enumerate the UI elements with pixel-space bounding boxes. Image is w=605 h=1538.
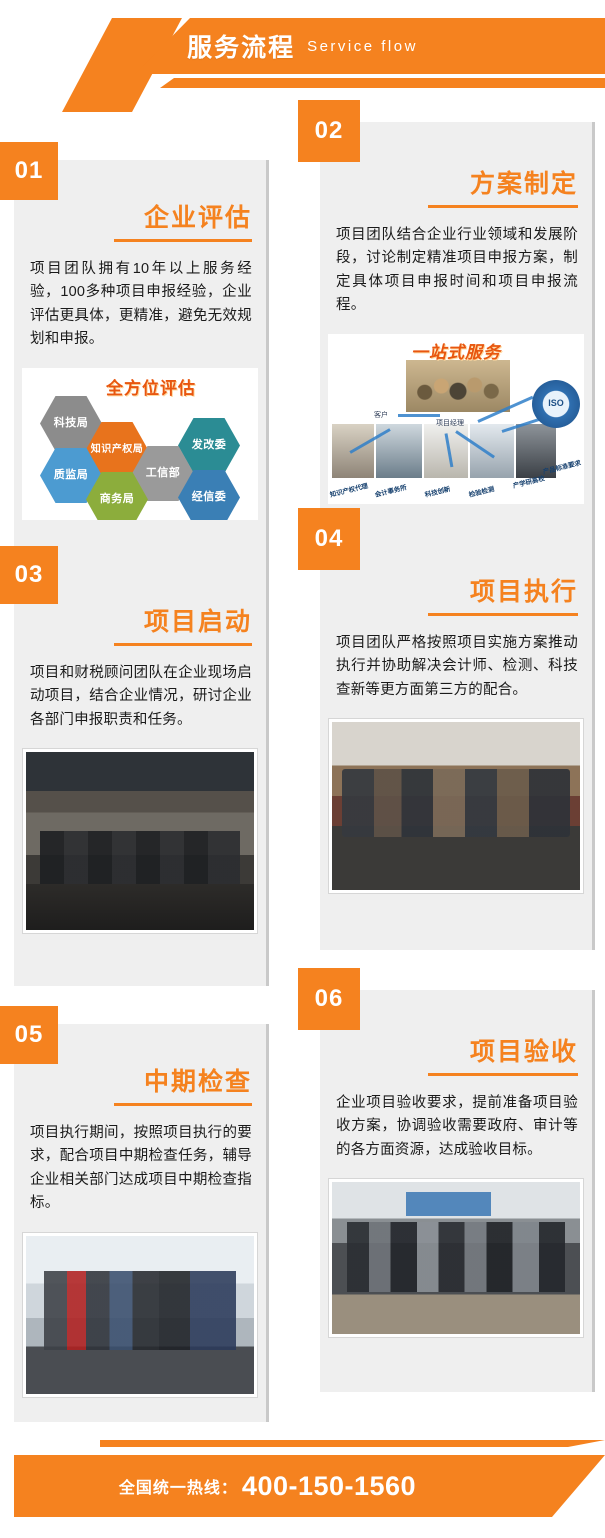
process-card-03[interactable]: 03 项目启动 项目和财税顾问团队在企业现场启动项目，结合企业情况，研讨企业各部…	[14, 564, 266, 986]
card-title-03: 项目启动	[14, 602, 266, 638]
header-secondary-bar	[160, 78, 605, 88]
card-number-badge-02: 02	[298, 100, 360, 162]
card-body-02: 项目团队结合企业行业领域和发展阶段，讨论制定精准项目申报方案，制定具体项目申报时…	[320, 208, 592, 328]
photo-site-visit	[26, 1236, 254, 1394]
card-number-badge-04: 04	[298, 508, 360, 570]
photo-conference-room	[26, 752, 254, 930]
photo-frame-06	[328, 1178, 584, 1338]
hexagon-chart-title: 全方位评估	[106, 374, 196, 399]
photo-media-03	[22, 748, 258, 934]
card-title-05: 中期检查	[14, 1062, 266, 1098]
page-footer: 全国统一热线： 400-150-1560	[0, 1424, 605, 1538]
oss-thumb-innovation	[424, 424, 468, 478]
meeting-photo-thumb	[406, 360, 510, 412]
photo-frame-03	[22, 748, 258, 934]
card-number-badge-03: 03	[0, 546, 58, 604]
photo-acceptance-meeting	[332, 1182, 580, 1334]
iso-seal-icon	[532, 380, 580, 428]
oss-label-ip-agency: 知识产权代理	[329, 480, 369, 499]
one-stop-service-title: 一站式服务	[328, 338, 584, 363]
card-body-05: 项目执行期间，按照项目执行的要求，配合项目中期检查任务，辅导企业相关部门达成项目…	[14, 1106, 266, 1226]
card-title-04: 项目执行	[320, 572, 592, 608]
oss-node-project-manager: 项目经理	[436, 418, 464, 428]
photo-frame-05	[22, 1232, 258, 1398]
card-title-06: 项目验收	[320, 1032, 592, 1068]
hexagon-chart-media: 全方位评估 科技局 知识产权局 发改委 质监局 工信部 经信委 商务局	[22, 368, 258, 520]
oss-node-customer: 客户	[374, 410, 388, 420]
oss-label-inspection: 检验检测	[468, 483, 496, 499]
card-title-02: 方案制定	[320, 164, 592, 200]
card-number-badge-01: 01	[0, 142, 58, 200]
page-header: 服务流程 Service flow	[0, 0, 605, 112]
process-card-04[interactable]: 04 项目执行 项目团队严格按照项目实施方案推动执行并协助解决会计师、检测、科技…	[320, 530, 592, 950]
card-body-03: 项目和财税顾问团队在企业现场启动项目，结合企业情况，研讨企业各部门申报职责和任务…	[14, 646, 266, 742]
header-banner-bar	[135, 18, 605, 74]
oss-thumb-inspection	[470, 424, 514, 478]
photo-media-06	[328, 1178, 584, 1338]
card-title-01: 企业评估	[14, 198, 266, 234]
card-number-badge-05: 05	[0, 1006, 58, 1064]
footer-banner-bar	[14, 1455, 605, 1517]
process-card-06[interactable]: 06 项目验收 企业项目验收要求，提前准备项目验收方案，协调验收需要政府、审计等…	[320, 990, 592, 1392]
photo-frame-04	[328, 718, 584, 894]
one-stop-service-diagram: 一站式服务 客户 项目经理 知识产权代理 会计事务所 科技创新	[328, 334, 584, 504]
hexagon-chart: 全方位评估 科技局 知识产权局 发改委 质监局 工信部 经信委 商务局	[22, 368, 258, 520]
photo-working-meeting	[332, 722, 580, 890]
one-stop-service-media: 一站式服务 客户 项目经理 知识产权代理 会计事务所 科技创新	[328, 334, 584, 504]
process-card-05[interactable]: 05 中期检查 项目执行期间，按照项目执行的要求，配合项目中期检查任务，辅导企业…	[14, 1024, 266, 1422]
card-body-06: 企业项目验收要求，提前准备项目验收方案，协调验收需要政府、审计等的各方面资源，达…	[320, 1076, 592, 1172]
photo-media-05	[22, 1232, 258, 1398]
photo-media-04	[328, 718, 584, 894]
process-card-02[interactable]: 02 方案制定 项目团队结合企业行业领域和发展阶段，讨论制定精准项目申报方案，制…	[320, 122, 592, 534]
card-number-badge-06: 06	[298, 968, 360, 1030]
process-card-01[interactable]: 01 企业评估 项目团队拥有10年以上服务经验，100多种项目申报经验，企业评估…	[14, 160, 266, 580]
card-body-04: 项目团队严格按照项目实施方案推动执行并协助解决会计师、检测、科技查新等更方面第三…	[320, 616, 592, 712]
card-body-01: 项目团队拥有10年以上服务经验，100多种项目申报经验，企业评估更具体，更精准，…	[14, 242, 266, 362]
footer-accent-line	[100, 1440, 605, 1447]
oss-label-innovation: 科技创新	[424, 483, 452, 499]
oss-label-accounting: 会计事务所	[374, 481, 408, 499]
oss-arrow-customer	[398, 414, 440, 417]
